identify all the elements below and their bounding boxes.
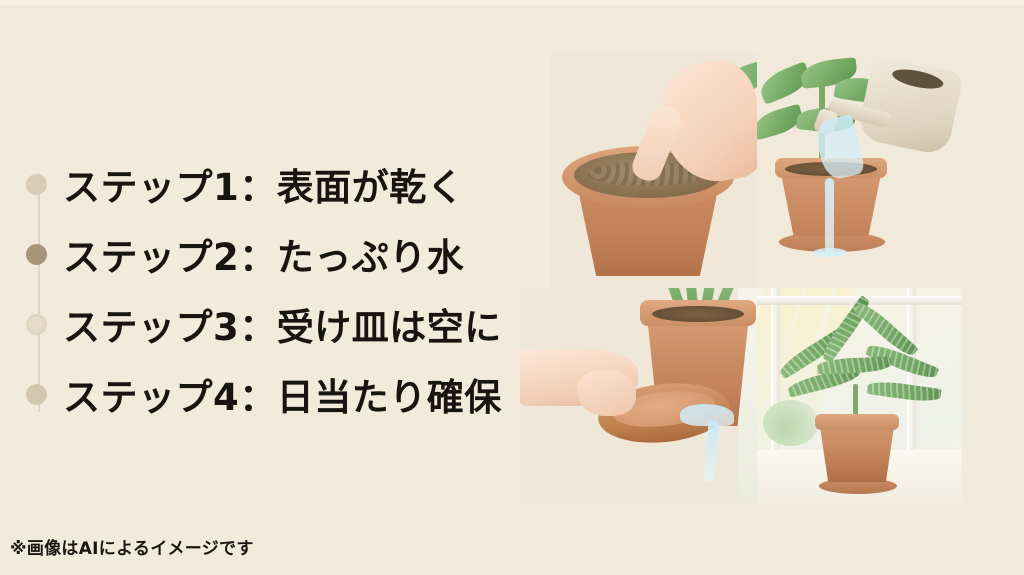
step-item-1-label: ステップ1：表面が乾く xyxy=(63,157,464,211)
step-item-4-label: ステップ4：日当たり確保 xyxy=(63,367,502,421)
panel-empty-saucer xyxy=(520,288,760,503)
outdoor-foliage xyxy=(763,400,819,446)
step-timeline: ステップ1：表面が乾く ステップ2：たっぷり水 ステップ3：受け皿は空に ステッ… xyxy=(0,148,540,438)
illustration-gallery xyxy=(500,40,970,520)
panel-sunny-window xyxy=(757,288,962,506)
step-dot-4-icon xyxy=(26,384,47,405)
water-in-saucer xyxy=(680,404,734,426)
water-drip xyxy=(825,178,834,254)
soil-surface xyxy=(652,306,744,322)
step-item-3-label: ステップ3：受け皿は空に xyxy=(63,297,502,351)
hand-fingers xyxy=(578,370,636,416)
pot-rim xyxy=(815,414,899,430)
panel-watering-can xyxy=(757,52,962,292)
timeline-rail xyxy=(38,174,40,412)
step-item-2-label: ステップ2：たっぷり水 xyxy=(63,227,464,281)
slide-root: ステップ1：表面が乾く ステップ2：たっぷり水 ステップ3：受け皿は空に ステッ… xyxy=(0,0,1024,575)
panel-finger-dry-soil xyxy=(550,52,760,292)
water-puddle xyxy=(813,248,847,257)
step-dot-3-icon xyxy=(26,314,47,335)
watering-can-icon xyxy=(856,55,962,156)
step-dot-2-icon xyxy=(26,244,47,265)
ai-image-disclaimer: ※画像はAIによるイメージです xyxy=(10,534,254,559)
step-dot-1-icon xyxy=(26,174,47,195)
top-edge-band xyxy=(0,0,1024,5)
